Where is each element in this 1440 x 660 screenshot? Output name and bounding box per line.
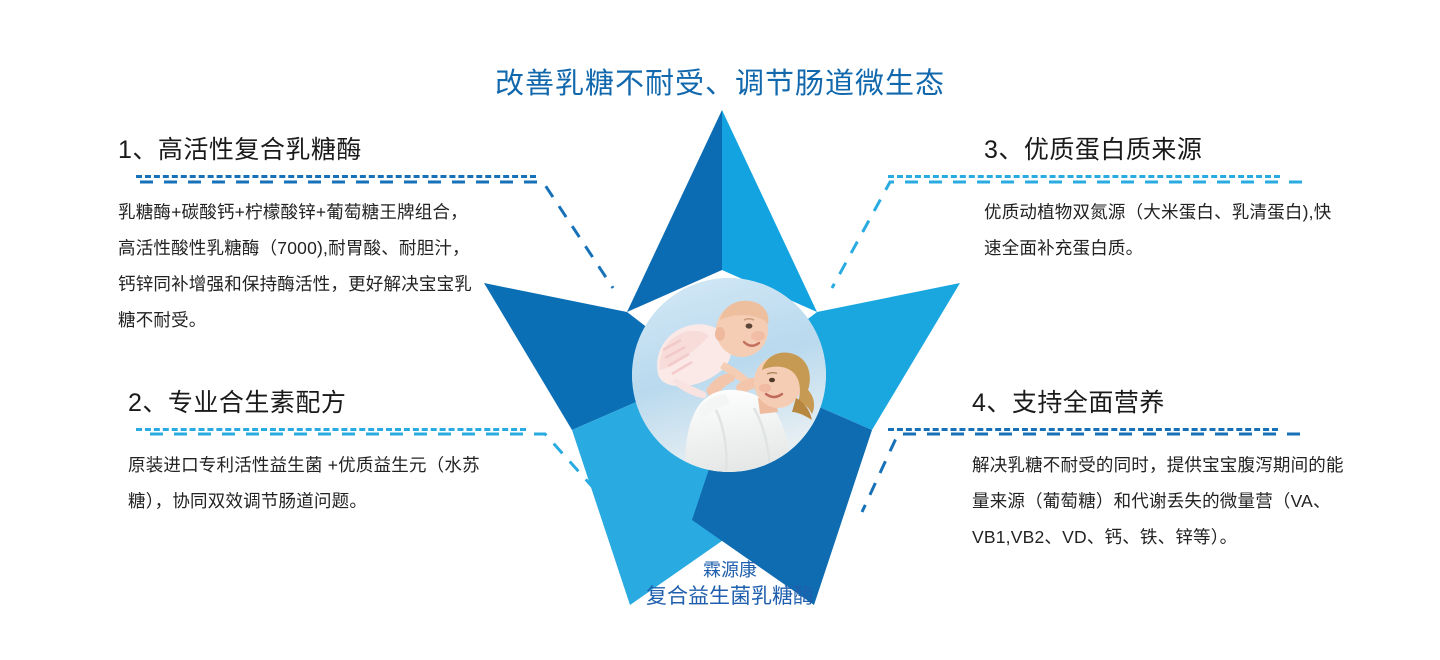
brand-name: 霖源康 (560, 558, 900, 583)
feature-4-heading: 4、支持全面营养 (972, 383, 1344, 419)
feature-2-body: 原装进口专利活性益生菌 +优质益生元（水苏糖），协同双效调节肠道问题。 (128, 448, 480, 520)
feature-2-heading: 2、专业合生素配方 (128, 383, 480, 419)
feature-1-divider (136, 175, 536, 178)
feature-block-3: 3、优质蛋白质来源 优质动植物双氮源（大米蛋白、乳清蛋白),快速全面补充蛋白质。 (984, 130, 1344, 267)
brand-block: 霖源康 复合益生菌乳糖酶 (560, 558, 900, 612)
feature-1-heading: 1、高活性复合乳糖酶 (118, 130, 478, 166)
feature-block-4: 4、支持全面营养 解决乳糖不耐受的同时，提供宝宝腹泻期间的能量来源（葡萄糖）和代… (972, 383, 1344, 556)
feature-4-divider (888, 428, 1278, 431)
feature-1-body: 乳糖酶+碳酸钙+柠檬酸锌+葡萄糖王牌组合，高活性酸性乳糖酶（7000),耐胃酸、… (118, 195, 478, 339)
feature-2-divider (136, 428, 526, 431)
feature-4-body: 解决乳糖不耐受的同时，提供宝宝腹泻期间的能量来源（葡萄糖）和代谢丢失的微量营（V… (972, 448, 1344, 556)
center-photo-mother-and-baby (632, 278, 826, 472)
feature-block-2: 2、专业合生素配方 原装进口专利活性益生菌 +优质益生元（水苏糖），协同双效调节… (128, 383, 480, 520)
feature-3-heading: 3、优质蛋白质来源 (984, 130, 1344, 166)
page-title: 改善乳糖不耐受、调节肠道微生态 (0, 60, 1440, 102)
feature-block-1: 1、高活性复合乳糖酶 乳糖酶+碳酸钙+柠檬酸锌+葡萄糖王牌组合，高活性酸性乳糖酶… (118, 130, 478, 339)
feature-3-divider (888, 175, 1280, 178)
brand-product: 复合益生菌乳糖酶 (560, 583, 900, 612)
feature-3-body: 优质动植物双氮源（大米蛋白、乳清蛋白),快速全面补充蛋白质。 (984, 195, 1344, 267)
infographic-canvas: 改善乳糖不耐受、调节肠道微生态 (0, 0, 1440, 660)
